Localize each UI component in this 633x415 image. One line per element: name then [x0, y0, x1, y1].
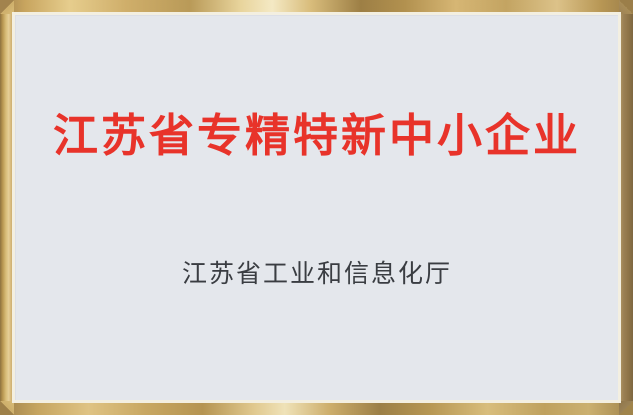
award-plaque: 江苏省专精特新中小企业 江苏省工业和信息化厅	[0, 0, 633, 415]
plaque-title: 江苏省专精特新中小企业	[16, 113, 618, 158]
frame-corner-bottom-right	[619, 401, 633, 415]
frame-corner-bottom-left	[0, 401, 14, 415]
frame-border-left	[0, 0, 14, 415]
frame-corner-top-left	[0, 0, 14, 14]
frame-corner-top-right	[619, 0, 633, 14]
frame-border-right	[619, 0, 633, 415]
frame-border-bottom	[0, 401, 633, 415]
plaque-issuing-authority: 江苏省工业和信息化厅	[16, 261, 618, 286]
frame-border-top	[0, 0, 633, 14]
plaque-panel: 江苏省专精特新中小企业 江苏省工业和信息化厅	[15, 15, 618, 400]
